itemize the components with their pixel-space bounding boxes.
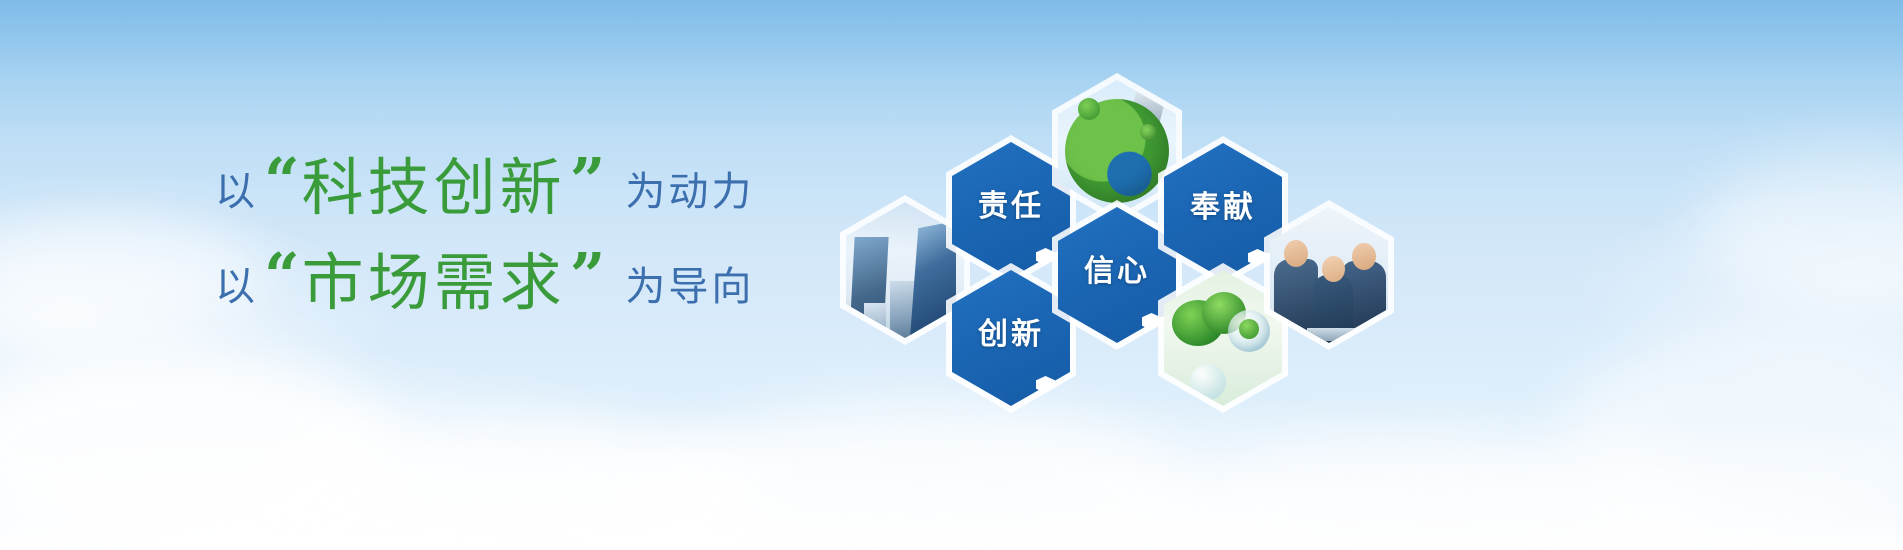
promo-banner: 以 “ 科技创新 ” 为动力 以 “ 市场需求 ” 为导向 (0, 0, 1903, 550)
headline-line1-emphasis: 科技创新 (302, 157, 566, 219)
headline-line1-prefix: 以 (215, 159, 258, 217)
cloud-decoration (1560, 330, 1903, 530)
person-head (1284, 240, 1308, 267)
hexagon-cluster: 责任 创新 信心 (820, 60, 1420, 400)
headline-line2-quoted: “ 市场需求 ” (264, 252, 605, 314)
person-head (1352, 243, 1376, 270)
headline-line1-suffix: 为动力 (625, 159, 754, 217)
headline-line1-quoted: “ 科技创新 ” (264, 157, 605, 219)
headline-block: 以 “ 科技创新 ” 为动力 以 “ 市场需求 ” 为导向 (215, 140, 875, 330)
cloud-decoration (1180, 430, 1700, 550)
quote-open-icon: “ (264, 252, 300, 300)
headline-line-2: 以 “ 市场需求 ” 为导向 (215, 235, 875, 330)
glass-ball-shape (1190, 364, 1226, 400)
quote-close-icon: ” (570, 157, 606, 205)
sprout-in-globe-shape (1228, 310, 1270, 352)
cloud-decoration (1700, 150, 1903, 300)
hexagon-team-photo-clip (1270, 207, 1388, 343)
business-team-thumbsup-photo (1270, 207, 1388, 343)
cloud-decoration (640, 400, 1200, 550)
cloud-decoration (0, 350, 400, 540)
city-building-mid (890, 281, 916, 338)
tree-shape (1140, 124, 1156, 140)
person-head (1322, 256, 1345, 282)
quote-open-icon: “ (264, 157, 300, 205)
headline-line-1: 以 “ 科技创新 ” 为动力 (215, 140, 875, 235)
headline-line2-emphasis: 市场需求 (302, 252, 566, 314)
quote-close-icon: ” (570, 252, 606, 300)
cloud-decoration (250, 420, 770, 550)
tree-shape (1078, 98, 1100, 120)
city-building-small (864, 303, 886, 338)
laptop-shape (1305, 328, 1363, 341)
headline-line2-suffix: 为导向 (625, 254, 754, 312)
headline-line2-prefix: 以 (215, 254, 258, 312)
